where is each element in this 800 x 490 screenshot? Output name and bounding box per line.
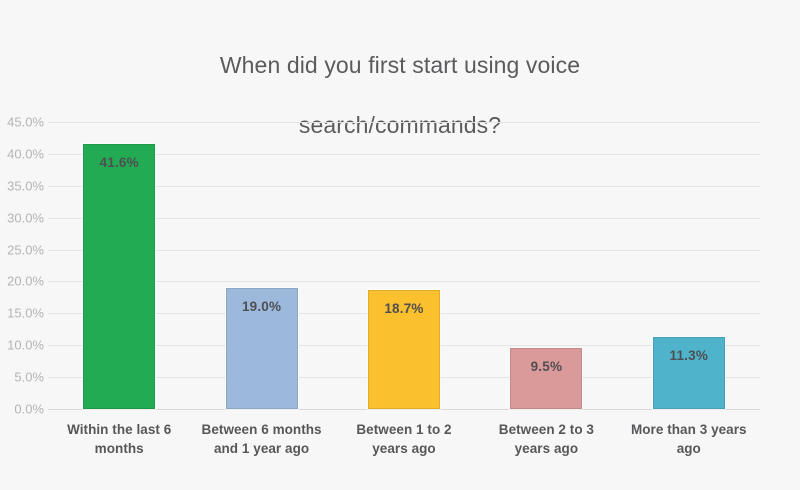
y-axis-tick-label: 45.0%	[0, 116, 44, 129]
plot-area: 41.6%19.0%18.7%9.5%11.3%	[48, 118, 760, 413]
bar-value-label: 19.0%	[227, 299, 297, 314]
y-axis-tick-label: 30.0%	[0, 211, 44, 224]
x-axis-category-label-line: Between 1 to 2	[356, 422, 451, 437]
bar-value-label: 41.6%	[84, 155, 154, 170]
bar-value-label: 18.7%	[369, 301, 439, 316]
x-axis-category-label: Between 6 monthsand 1 year ago	[190, 420, 332, 458]
y-axis-tick-label: 25.0%	[0, 243, 44, 256]
bar-value-label: 11.3%	[654, 348, 724, 363]
x-axis-category-label: Between 2 to 3years ago	[475, 420, 617, 458]
y-axis-tick-labels: 0.0%5.0%10.0%15.0%20.0%25.0%30.0%35.0%40…	[0, 118, 44, 413]
bar[interactable]: 41.6%	[83, 144, 155, 409]
x-axis-category-label-line: Between 6 months	[202, 422, 322, 437]
x-axis-category-labels: Within the last 6monthsBetween 6 monthsa…	[48, 420, 760, 480]
bar[interactable]: 18.7%	[368, 290, 440, 409]
x-axis-category-label-line: Within the last 6	[67, 422, 171, 437]
x-axis-category-label-line: months	[95, 441, 144, 456]
bar-chart: When did you first start using voice sea…	[0, 0, 800, 490]
x-axis-category-label-line: More than 3 years	[631, 422, 747, 437]
x-axis-category-label: Between 1 to 2years ago	[333, 420, 475, 458]
y-axis-tick-label: 20.0%	[0, 275, 44, 288]
bar[interactable]: 11.3%	[653, 337, 725, 409]
bars-layer: 41.6%19.0%18.7%9.5%11.3%	[48, 118, 760, 413]
y-axis-tick-label: 40.0%	[0, 147, 44, 160]
bar[interactable]: 19.0%	[226, 288, 298, 409]
bar[interactable]: 9.5%	[510, 348, 582, 409]
y-axis-tick-label: 35.0%	[0, 179, 44, 192]
y-axis-tick-label: 5.0%	[0, 371, 44, 384]
x-axis-category-label-line: and 1 year ago	[214, 441, 309, 456]
x-axis-category-label: Within the last 6months	[48, 420, 190, 458]
chart-title-line-1: When did you first start using voice	[220, 52, 580, 78]
x-axis-category-label-line: Between 2 to 3	[499, 422, 594, 437]
bar-value-label: 9.5%	[511, 359, 581, 374]
x-axis-category-label-line: years ago	[515, 441, 579, 456]
x-axis-category-label-line: ago	[677, 441, 701, 456]
x-axis-category-label-line: years ago	[372, 441, 436, 456]
y-axis-tick-label: 15.0%	[0, 307, 44, 320]
x-axis-category-label: More than 3 yearsago	[618, 420, 760, 458]
y-axis-tick-label: 10.0%	[0, 339, 44, 352]
y-axis-tick-label: 0.0%	[0, 403, 44, 416]
